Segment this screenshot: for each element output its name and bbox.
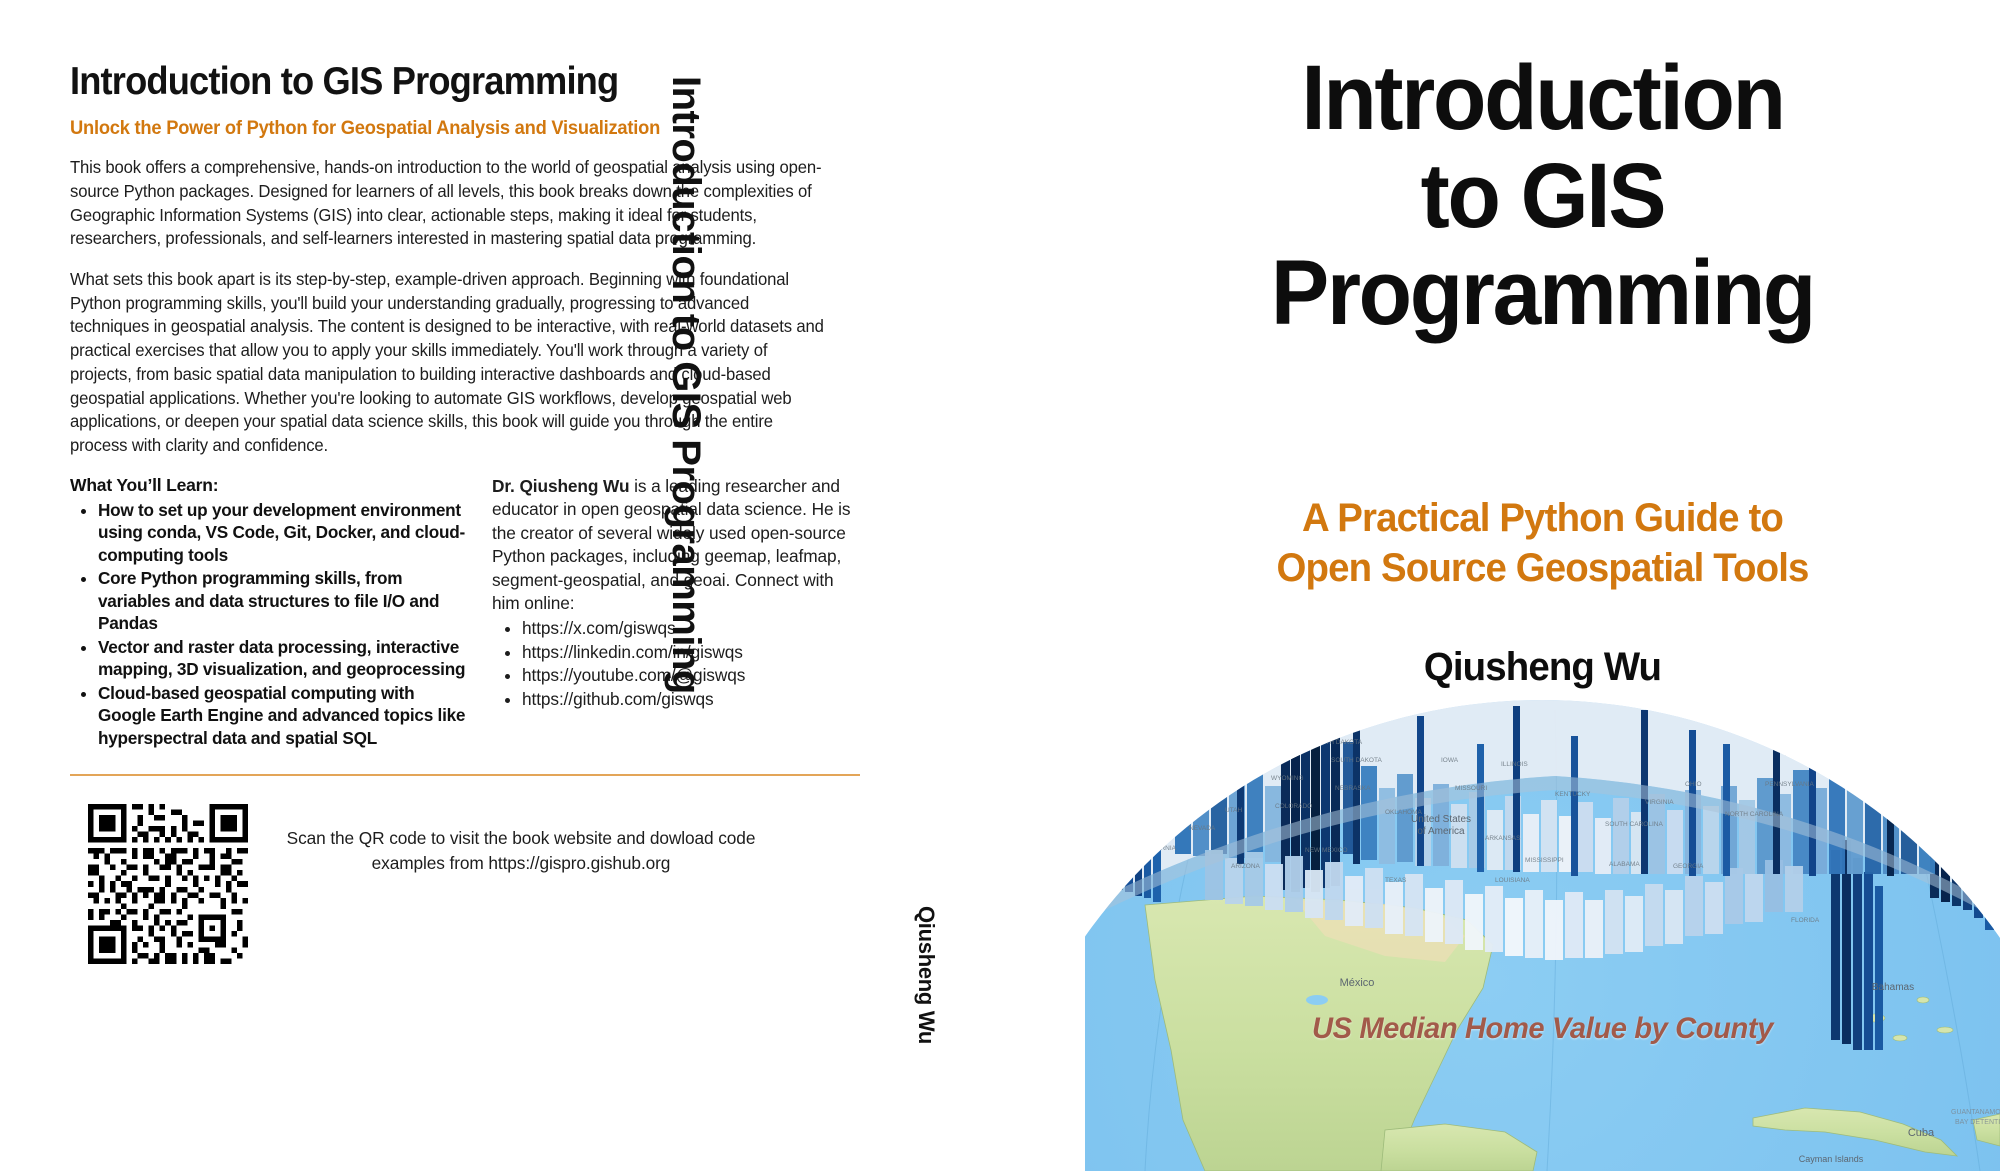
author-link-x[interactable]: https://x.com/giswqs xyxy=(522,618,676,638)
back-cover-title: Introduction to GIS Programming xyxy=(70,62,847,103)
label-state: VIRGINIA xyxy=(1645,799,1674,806)
front-subtitle-line-2: Open Source Geospatial Tools xyxy=(1103,543,1981,593)
front-title-line-1: Introduction xyxy=(1108,50,1977,148)
front-subtitle-line-1: A Practical Python Guide to xyxy=(1103,493,1981,543)
label-state: PENNSYLVANIA xyxy=(1765,781,1815,788)
label-state: GEORGIA xyxy=(1673,863,1704,870)
label-guantanamo: GUANTANAMO xyxy=(1951,1109,2000,1116)
label-state: VERMONT xyxy=(1827,733,1860,740)
label-state: NEVADA xyxy=(1189,825,1216,832)
label-state: ARIZONA xyxy=(1231,863,1261,870)
list-item: Core Python programming skills, from var… xyxy=(98,567,470,635)
label-state: UTAH xyxy=(1225,807,1243,814)
label-state: ILLINOIS xyxy=(1501,761,1528,768)
label-state: NEW MEXICO xyxy=(1305,847,1348,854)
spine-author: Qiusheng Wu xyxy=(913,906,939,1044)
label-state: CALIFORNIA xyxy=(1137,845,1177,852)
west-coast-bars xyxy=(1085,702,1161,902)
front-title-line-2: to GIS xyxy=(1108,148,1977,246)
label-state: MISSISSIPPI xyxy=(1525,857,1564,864)
qr-code-icon[interactable] xyxy=(88,804,248,964)
label-state: FLORIDA xyxy=(1791,917,1820,924)
label-state: ARKANSAS xyxy=(1485,835,1521,842)
globe-visualization: United States of America México Bahamas … xyxy=(1085,700,2000,1171)
list-item: Cloud-based geospatial computing with Go… xyxy=(98,682,470,750)
label-state: SOUTH CAROLINA xyxy=(1605,821,1663,828)
label-state: IOWA xyxy=(1441,757,1459,764)
what-youll-learn-list: How to set up your development environme… xyxy=(70,499,470,750)
author-link-youtube[interactable]: https://youtube.com/@giswqs xyxy=(522,665,745,685)
book-cover: Introduction to GIS Programming Unlock t… xyxy=(0,0,2000,1171)
label-state: LOUISIANA xyxy=(1495,877,1530,884)
globe-svg: United States of America México Bahamas … xyxy=(1085,700,2000,1171)
list-item: How to set up your development environme… xyxy=(98,499,470,567)
label-state: OREGON xyxy=(1153,813,1182,820)
label-state: OKLAHOMA xyxy=(1385,809,1423,816)
label-cuba: Cuba xyxy=(1908,1127,1935,1139)
label-state: NORTH DAKOTA xyxy=(1311,739,1363,746)
label-state: ALABAMA xyxy=(1609,861,1640,868)
front-cover: Introduction to GIS Programming A Practi… xyxy=(1085,0,2000,1171)
back-cover-paragraph-1: This book offers a comprehensive, hands-… xyxy=(70,156,832,251)
qr-caption: Scan the QR code to visit the book websi… xyxy=(248,804,860,875)
what-youll-learn-heading: What You’ll Learn: xyxy=(70,475,470,496)
book-spine: Introduction to GIS Programming Qiusheng… xyxy=(905,0,1085,1171)
label-state: TEXAS xyxy=(1385,877,1407,884)
label-state: COLORADO xyxy=(1275,803,1312,810)
label-state: NEBRASKA xyxy=(1335,785,1371,792)
label-state: NORTH CAROLINA xyxy=(1725,811,1784,818)
label-cayman-islands: Cayman Islands xyxy=(1799,1154,1864,1164)
back-cover: Introduction to GIS Programming Unlock t… xyxy=(0,0,905,1171)
label-state: MASSACHUSETTS xyxy=(1845,753,1903,760)
label-guantanamo-2: BAY DETENTION xyxy=(1955,1119,2000,1126)
what-youll-learn-section: What You’ll Learn: How to set up your de… xyxy=(70,475,470,751)
label-state: OHIO xyxy=(1685,781,1702,788)
list-item: Vector and raster data processing, inter… xyxy=(98,636,470,681)
spine-title: Introduction to GIS Programming xyxy=(663,76,708,694)
label-state: MAINE xyxy=(1855,715,1876,722)
author-link-linkedin[interactable]: https://linkedin.com/in/giswqs xyxy=(522,642,743,662)
label-state: SOUTH DAKOTA xyxy=(1331,757,1382,764)
label-mexico: México xyxy=(1340,977,1375,989)
label-bahamas: Bahamas xyxy=(1872,982,1914,993)
back-cover-columns: What You’ll Learn: How to set up your de… xyxy=(70,475,860,751)
label-state: WYOMING xyxy=(1271,775,1304,782)
label-state: MANITOBA xyxy=(1295,719,1329,726)
inland-lake xyxy=(1306,995,1328,1005)
label-state: MONTANA xyxy=(1257,753,1290,760)
section-divider xyxy=(70,774,860,776)
label-of-america: of America xyxy=(1417,826,1465,837)
label-state: MISSOURI xyxy=(1455,785,1487,792)
label-state: KENTUCKY xyxy=(1555,791,1591,798)
back-cover-subtitle: Unlock the Power of Python for Geospatia… xyxy=(70,117,855,140)
qr-section: Scan the QR code to visit the book websi… xyxy=(70,804,860,964)
front-cover-title: Introduction to GIS Programming xyxy=(1108,50,1977,343)
front-cover-author: Qiusheng Wu xyxy=(1103,645,1981,690)
author-bio-name: Dr. Qiusheng Wu xyxy=(492,476,629,496)
label-state: NEW YORK xyxy=(1785,751,1821,758)
qr-code-wrapper xyxy=(88,804,248,964)
front-cover-subtitle: A Practical Python Guide to Open Source … xyxy=(1103,493,1981,594)
front-title-line-3: Programming xyxy=(1108,245,1977,343)
back-cover-paragraph-2: What sets this book apart is its step-by… xyxy=(70,268,832,458)
